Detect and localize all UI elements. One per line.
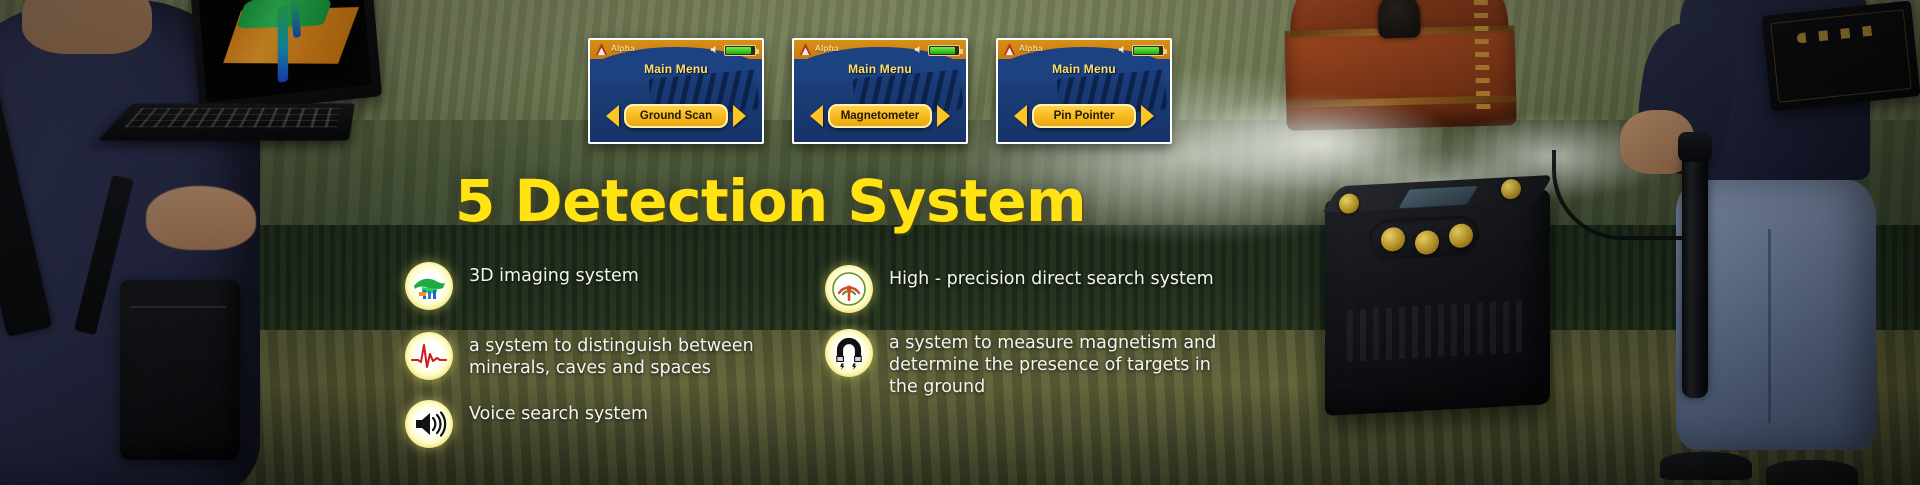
panel-status-bar: Alpha: [998, 40, 1170, 59]
battery-indicator: [1132, 45, 1164, 56]
list-item: High - precision direct search system: [825, 265, 1245, 313]
panel-brand-text: Alpha: [1019, 44, 1043, 53]
list-item: a system to distinguish between minerals…: [405, 332, 825, 380]
panel-brand-text: Alpha: [611, 44, 635, 53]
feature-label: a system to measure magnetism and determ…: [889, 329, 1245, 399]
feature-list-right: High - precision direct search system a …: [825, 265, 1245, 417]
prev-mode-arrow-icon[interactable]: [1014, 105, 1027, 127]
feature-label: 3D imaging system: [469, 262, 639, 288]
prev-mode-arrow-icon[interactable]: [810, 105, 823, 127]
battery-indicator: [928, 45, 960, 56]
detector-display: [1397, 185, 1479, 209]
device-menu-panels: Alpha Main Menu Ground Scan Alpha: [588, 38, 1172, 144]
panel-selector-row: Magnetometer: [794, 104, 966, 128]
panel-brand-text: Alpha: [815, 44, 839, 53]
next-mode-arrow-icon[interactable]: [1141, 105, 1154, 127]
volume-icon: [709, 44, 720, 55]
operator2-shoe-left: [1660, 452, 1752, 480]
brand-logo-icon: [1002, 42, 1017, 57]
mode-button-pin-pointer[interactable]: Pin Pointer: [1032, 104, 1136, 128]
laptop-keyboard: [98, 104, 355, 141]
brand-logo-icon: [798, 42, 813, 57]
panel-selector-row: Ground Scan: [590, 104, 762, 128]
operator2-shoe-right: [1766, 460, 1858, 485]
feature-label: Voice search system: [469, 400, 648, 426]
prev-mode-arrow-icon[interactable]: [606, 105, 619, 127]
laptop-keys: [124, 108, 340, 127]
volume-icon: [913, 44, 924, 55]
magnet-icon: [825, 329, 873, 377]
panel-status-bar: Alpha: [794, 40, 966, 59]
treasure-chest: [1283, 0, 1517, 141]
waveform-pulse-icon: [405, 332, 453, 380]
chest-rivets: [1473, 0, 1490, 114]
laptop: [116, 0, 366, 156]
laptop-screen: [198, 0, 371, 103]
detector-control-unit: [1325, 189, 1550, 416]
next-mode-arrow-icon[interactable]: [733, 105, 746, 127]
list-item: Voice search system: [405, 400, 825, 448]
feature-list-left: 3D imaging system a system to distinguis…: [405, 262, 825, 466]
device-panel-ground-scan[interactable]: Alpha Main Menu Ground Scan: [588, 38, 764, 144]
speaker-icon: [405, 400, 453, 448]
operator-hand: [146, 186, 256, 250]
list-item: a system to measure magnetism and determ…: [825, 329, 1245, 399]
terrain-3d-icon: [405, 262, 453, 310]
device-panel-pin-pointer[interactable]: Alpha Main Menu Pin Pointer: [996, 38, 1172, 144]
promo-banner: Alpha Main Menu Ground Scan Alpha: [0, 0, 1920, 485]
panel-title: Main Menu: [794, 62, 966, 76]
operator-with-laptop: [0, 0, 330, 485]
detector-shaft: [1682, 148, 1708, 398]
page-title: 5 Detection System: [455, 172, 1086, 230]
handheld-tablet: [1761, 0, 1920, 111]
detector-brand-emboss: [1347, 300, 1527, 361]
operator-with-detector: [1530, 0, 1920, 485]
panel-title: Main Menu: [998, 62, 1170, 76]
battery-indicator: [724, 45, 756, 56]
device-panel-magnetometer[interactable]: Alpha Main Menu Magnetometer: [792, 38, 968, 144]
panel-selector-row: Pin Pointer: [998, 104, 1170, 128]
volume-icon: [1117, 44, 1128, 55]
signal-target-icon: [825, 265, 873, 313]
chest-lock: [1378, 0, 1421, 39]
tablet-indicator-lights: [1796, 25, 1881, 44]
feature-label: a system to distinguish between minerals…: [469, 332, 825, 380]
brand-logo-icon: [594, 42, 609, 57]
list-item: 3D imaging system: [405, 262, 825, 310]
mode-button-ground-scan[interactable]: Ground Scan: [624, 104, 728, 128]
feature-label: High - precision direct search system: [889, 265, 1214, 291]
equipment-bag: [120, 280, 240, 460]
panel-status-bar: Alpha: [590, 40, 762, 59]
panel-title: Main Menu: [590, 62, 762, 76]
scan-depth-spike: [277, 6, 287, 83]
next-mode-arrow-icon[interactable]: [937, 105, 950, 127]
mode-button-magnetometer[interactable]: Magnetometer: [828, 104, 932, 128]
laptop-lid: [190, 0, 382, 115]
